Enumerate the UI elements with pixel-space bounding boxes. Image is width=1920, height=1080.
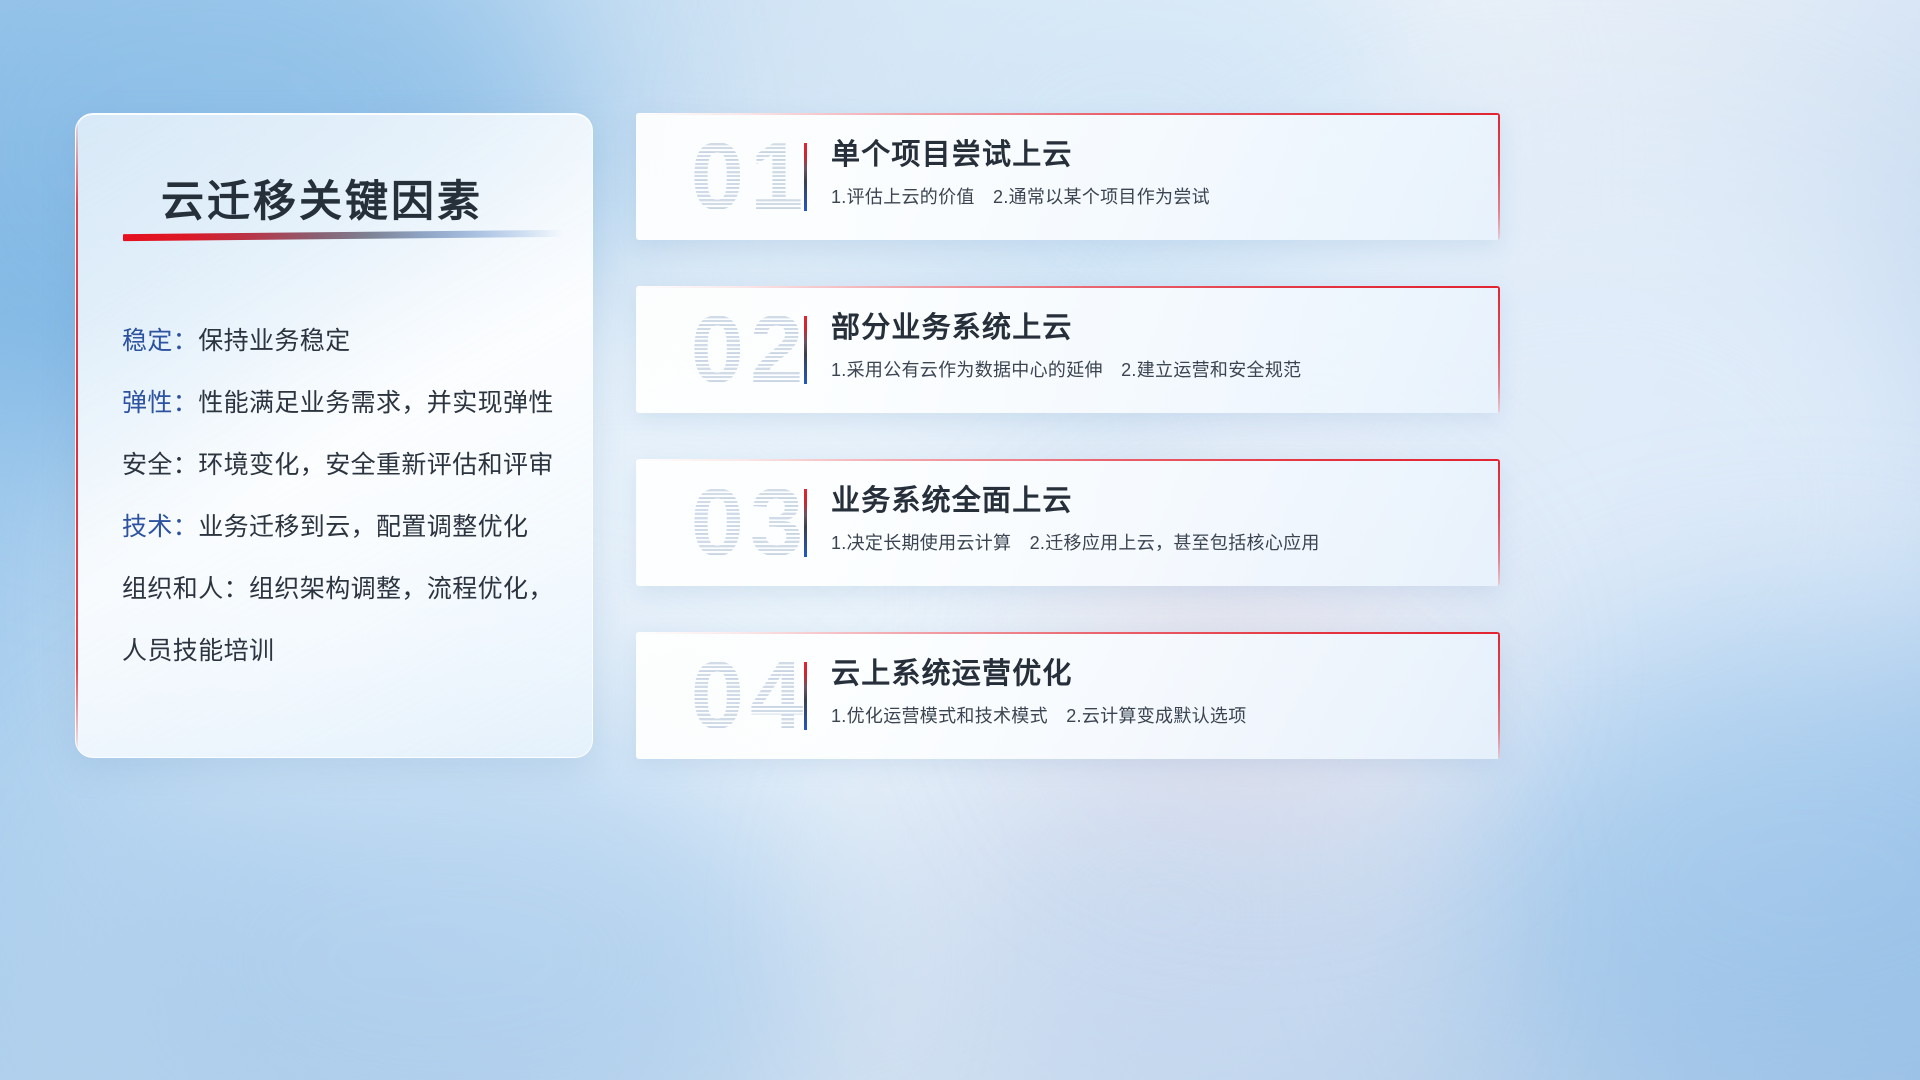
card-description: 1.决定长期使用云计算 2.迁移应用上云，甚至包括核心应用 bbox=[831, 530, 1470, 556]
title-underline-gradient bbox=[123, 230, 563, 241]
list-item-text: 组织架构调整，流程优化， bbox=[249, 575, 554, 603]
card-divider-bar bbox=[804, 316, 807, 384]
stage-number: 01 bbox=[660, 115, 840, 239]
card-description: 1.采用公有云作为数据中心的延伸 2.建立运营和安全规范 bbox=[831, 357, 1470, 383]
card-divider-bar bbox=[804, 489, 807, 557]
list-item: 稳定：保持业务稳定 bbox=[122, 310, 568, 372]
card-title: 单个项目尝试上云 bbox=[831, 135, 1470, 175]
card-body: 业务系统全面上云 1.决定长期使用云计算 2.迁移应用上云，甚至包括核心应用 bbox=[831, 481, 1470, 556]
list-item-label: 组织和人： bbox=[122, 575, 249, 603]
card-body: 部分业务系统上云 1.采用公有云作为数据中心的延伸 2.建立运营和安全规范 bbox=[831, 308, 1470, 383]
list-item-text: 性能满足业务需求，并实现弹性 bbox=[198, 389, 554, 417]
stage-card[interactable]: 03 03 业务系统全面上云 1.决定长期使用云计算 2.迁移应用上云，甚至包括… bbox=[636, 459, 1500, 586]
list-item-label: 技术： bbox=[122, 513, 198, 541]
card-body: 单个项目尝试上云 1.评估上云的价值 2.通常以某个项目作为尝试 bbox=[831, 135, 1470, 210]
list-item-text: 环境变化，安全重新评估和评审 bbox=[198, 451, 554, 479]
list-item-text: 业务迁移到云，配置调整优化 bbox=[198, 513, 528, 541]
list-item-text: 人员技能培训 bbox=[122, 637, 274, 665]
card-right-accent-line bbox=[1498, 286, 1500, 413]
stage-card[interactable]: 04 04 云上系统运营优化 1.优化运营模式和技术模式 2.云计算变成默认选项 bbox=[636, 632, 1500, 759]
stage-card[interactable]: 01 01 单个项目尝试上云 1.评估上云的价值 2.通常以某个项目作为尝试 bbox=[636, 113, 1500, 240]
key-factors-panel: 云迁移关键因素 稳定：保持业务稳定 弹性：性能满足业务需求，并实现弹性 安全：环… bbox=[75, 113, 593, 758]
card-title: 部分业务系统上云 bbox=[831, 308, 1470, 348]
list-item: 弹性：性能满足业务需求，并实现弹性 bbox=[122, 372, 568, 434]
list-item: 安全：环境变化，安全重新评估和评审 bbox=[122, 434, 568, 496]
list-item-label: 稳定： bbox=[122, 327, 198, 355]
panel-left-accent-bar bbox=[76, 114, 78, 757]
key-factors-list: 稳定：保持业务稳定 弹性：性能满足业务需求，并实现弹性 安全：环境变化，安全重新… bbox=[122, 310, 568, 682]
card-right-accent-line bbox=[1498, 632, 1500, 759]
stage-number: 04 bbox=[660, 634, 840, 758]
list-item: 人员技能培训 bbox=[122, 620, 568, 682]
stage-number: 02 bbox=[660, 288, 840, 412]
list-item-text: 保持业务稳定 bbox=[198, 327, 350, 355]
list-item-label: 弹性： bbox=[122, 389, 198, 417]
migration-stage-cards: 01 01 单个项目尝试上云 1.评估上云的价值 2.通常以某个项目作为尝试 0… bbox=[636, 113, 1500, 759]
card-divider-bar bbox=[804, 143, 807, 211]
list-item: 技术：业务迁移到云，配置调整优化 bbox=[122, 496, 568, 558]
slide-stage: 云迁移关键因素 稳定：保持业务稳定 弹性：性能满足业务需求，并实现弹性 安全：环… bbox=[0, 0, 1920, 1080]
page-title: 云迁移关键因素 bbox=[161, 167, 483, 229]
card-title: 业务系统全面上云 bbox=[831, 481, 1470, 521]
card-title: 云上系统运营优化 bbox=[831, 654, 1470, 694]
stage-number: 03 bbox=[660, 461, 840, 585]
card-right-accent-line bbox=[1498, 459, 1500, 586]
card-description: 1.优化运营模式和技术模式 2.云计算变成默认选项 bbox=[831, 703, 1470, 729]
stage-card[interactable]: 02 02 部分业务系统上云 1.采用公有云作为数据中心的延伸 2.建立运营和安… bbox=[636, 286, 1500, 413]
card-description: 1.评估上云的价值 2.通常以某个项目作为尝试 bbox=[831, 184, 1470, 210]
list-item: 组织和人：组织架构调整，流程优化， bbox=[122, 558, 568, 620]
list-item-label: 安全： bbox=[122, 451, 198, 479]
card-right-accent-line bbox=[1498, 113, 1500, 240]
card-divider-bar bbox=[804, 662, 807, 730]
card-body: 云上系统运营优化 1.优化运营模式和技术模式 2.云计算变成默认选项 bbox=[831, 654, 1470, 729]
